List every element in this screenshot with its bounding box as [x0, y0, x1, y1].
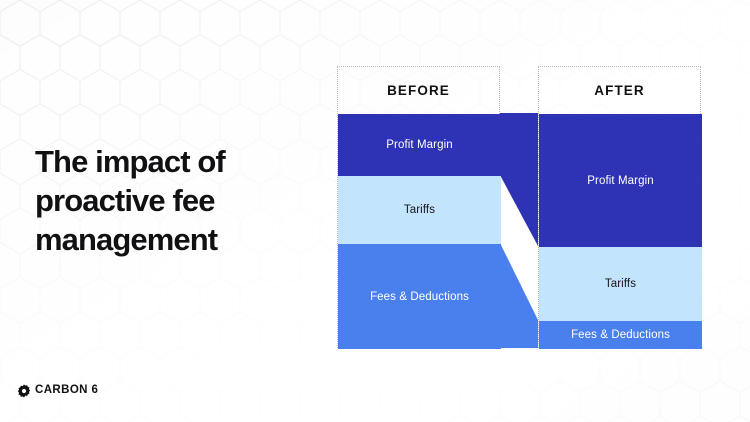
stack-before: Profit Margin Tariffs Fees & Deductions — [338, 114, 501, 349]
segment-after-tariffs[interactable]: Tariffs — [539, 247, 702, 321]
flow-connector-ribbons — [500, 113, 538, 348]
segment-after-profit-margin[interactable]: Profit Margin — [539, 114, 702, 247]
segment-after-fees-deductions[interactable]: Fees & Deductions — [539, 321, 702, 349]
column-header-before: BEFORE — [338, 67, 499, 114]
before-after-stacked-bar-chart: BEFORE Profit Margin Tariffs Fees & Dedu… — [337, 66, 701, 348]
stack-after: Profit Margin Tariffs Fees & Deductions — [539, 114, 702, 349]
column-header-after: AFTER — [539, 67, 700, 114]
gear-icon — [17, 384, 31, 398]
segment-before-fees-deductions[interactable]: Fees & Deductions — [338, 244, 501, 349]
brand-logo-text: CARBON 6 — [35, 385, 98, 397]
slide-title: The impact of proactive fee management — [35, 142, 315, 259]
slide-canvas: The impact of proactive fee management B… — [0, 0, 750, 422]
chart-column-after: AFTER Profit Margin Tariffs Fees & Deduc… — [538, 66, 701, 348]
segment-before-tariffs[interactable]: Tariffs — [338, 176, 501, 244]
chart-column-before: BEFORE Profit Margin Tariffs Fees & Dedu… — [337, 66, 500, 348]
segment-before-profit-margin[interactable]: Profit Margin — [338, 114, 501, 176]
brand-logo: CARBON 6 — [17, 384, 98, 398]
